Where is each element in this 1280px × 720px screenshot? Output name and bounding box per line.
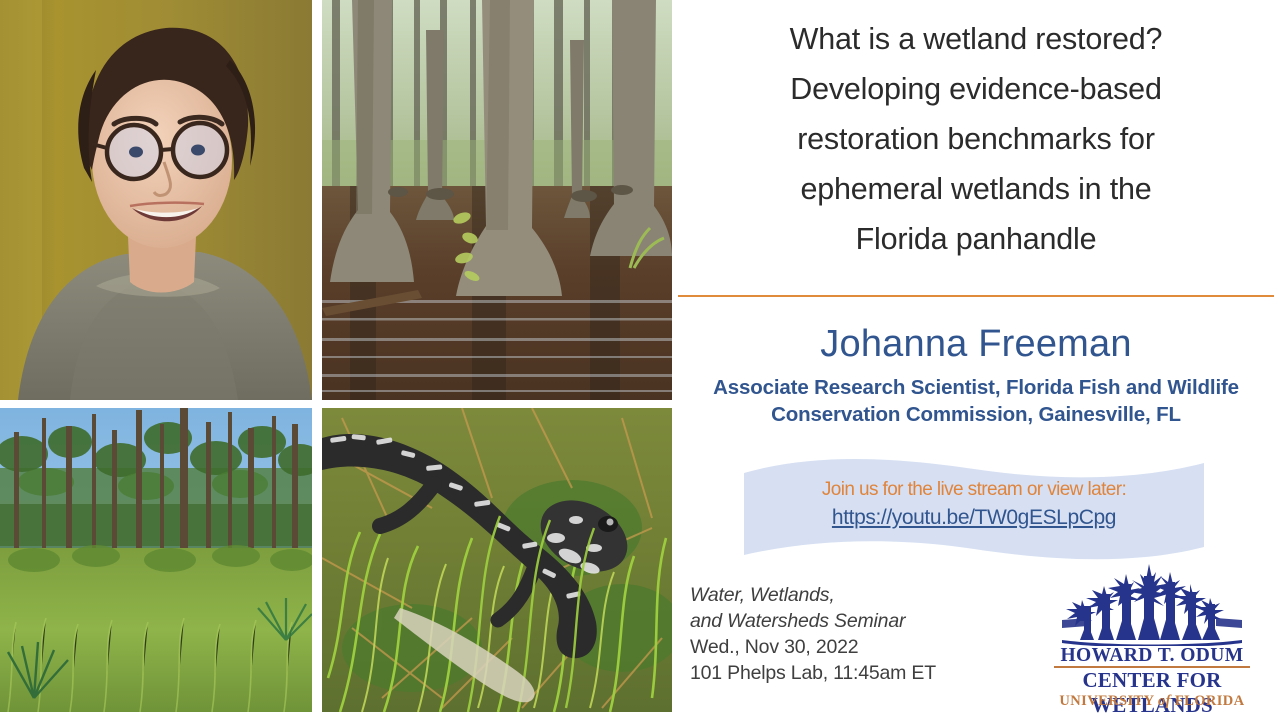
title-line-1: What is a wetland restored? <box>680 14 1272 64</box>
photo-grid <box>0 0 672 712</box>
speaker-name: Johanna Freeman <box>672 320 1280 368</box>
title-line-3: restoration benchmarks for <box>680 114 1272 164</box>
logo-university-word: UNIVERSITY <box>1059 693 1158 709</box>
seminar-date: Wed., Nov 30, 2022 <box>690 634 1030 660</box>
speaker-affiliation-line-2: Conservation Commission, Gainesville, FL <box>686 401 1266 428</box>
speaker-affiliation: Associate Research Scientist, Florida Fi… <box>686 374 1266 428</box>
photo-flatwoods-salamander <box>322 408 672 712</box>
logo-of-word: of <box>1158 693 1171 709</box>
photo-pine-flatwoods <box>0 408 312 712</box>
seminar-slide: What is a wetland restored? Developing e… <box>0 0 1280 720</box>
cypress-trees-icon <box>1058 560 1246 646</box>
title-line-4: ephemeral wetlands in the <box>680 164 1272 214</box>
speaker-affiliation-line-1: Associate Research Scientist, Florida Fi… <box>686 374 1266 401</box>
livestream-banner[interactable]: Join us for the live stream or view late… <box>744 455 1204 565</box>
right-info-panel: What is a wetland restored? Developing e… <box>672 0 1280 720</box>
title-line-2: Developing evidence-based <box>680 64 1272 114</box>
photo-cypress-swamp <box>322 0 672 400</box>
livestream-url-link[interactable]: https://youtu.be/TW0gESLpCpg <box>744 503 1204 533</box>
seminar-details: Water, Wetlands, and Watersheds Seminar … <box>690 582 1030 686</box>
center-for-wetlands-logo: HOWARD T. ODUM CENTER FOR WETLANDS UNIVE… <box>1040 560 1264 710</box>
livestream-prompt: Join us for the live stream or view late… <box>744 477 1204 503</box>
title-divider-rule <box>678 295 1274 297</box>
seminar-series-line-2: and Watersheds Seminar <box>690 608 1030 634</box>
photo-portrait-speaker <box>0 0 312 400</box>
page-title: What is a wetland restored? Developing e… <box>680 14 1272 264</box>
logo-line-howard-odum: HOWARD T. ODUM <box>1040 644 1264 667</box>
title-line-5: Florida panhandle <box>680 214 1272 264</box>
seminar-location-time: 101 Phelps Lab, 11:45am ET <box>690 660 1030 686</box>
logo-florida-word: FLORIDA <box>1171 693 1245 709</box>
seminar-series-line-1: Water, Wetlands, <box>690 582 1030 608</box>
logo-line-university-of-florida: UNIVERSITY of FLORIDA <box>1040 692 1264 710</box>
